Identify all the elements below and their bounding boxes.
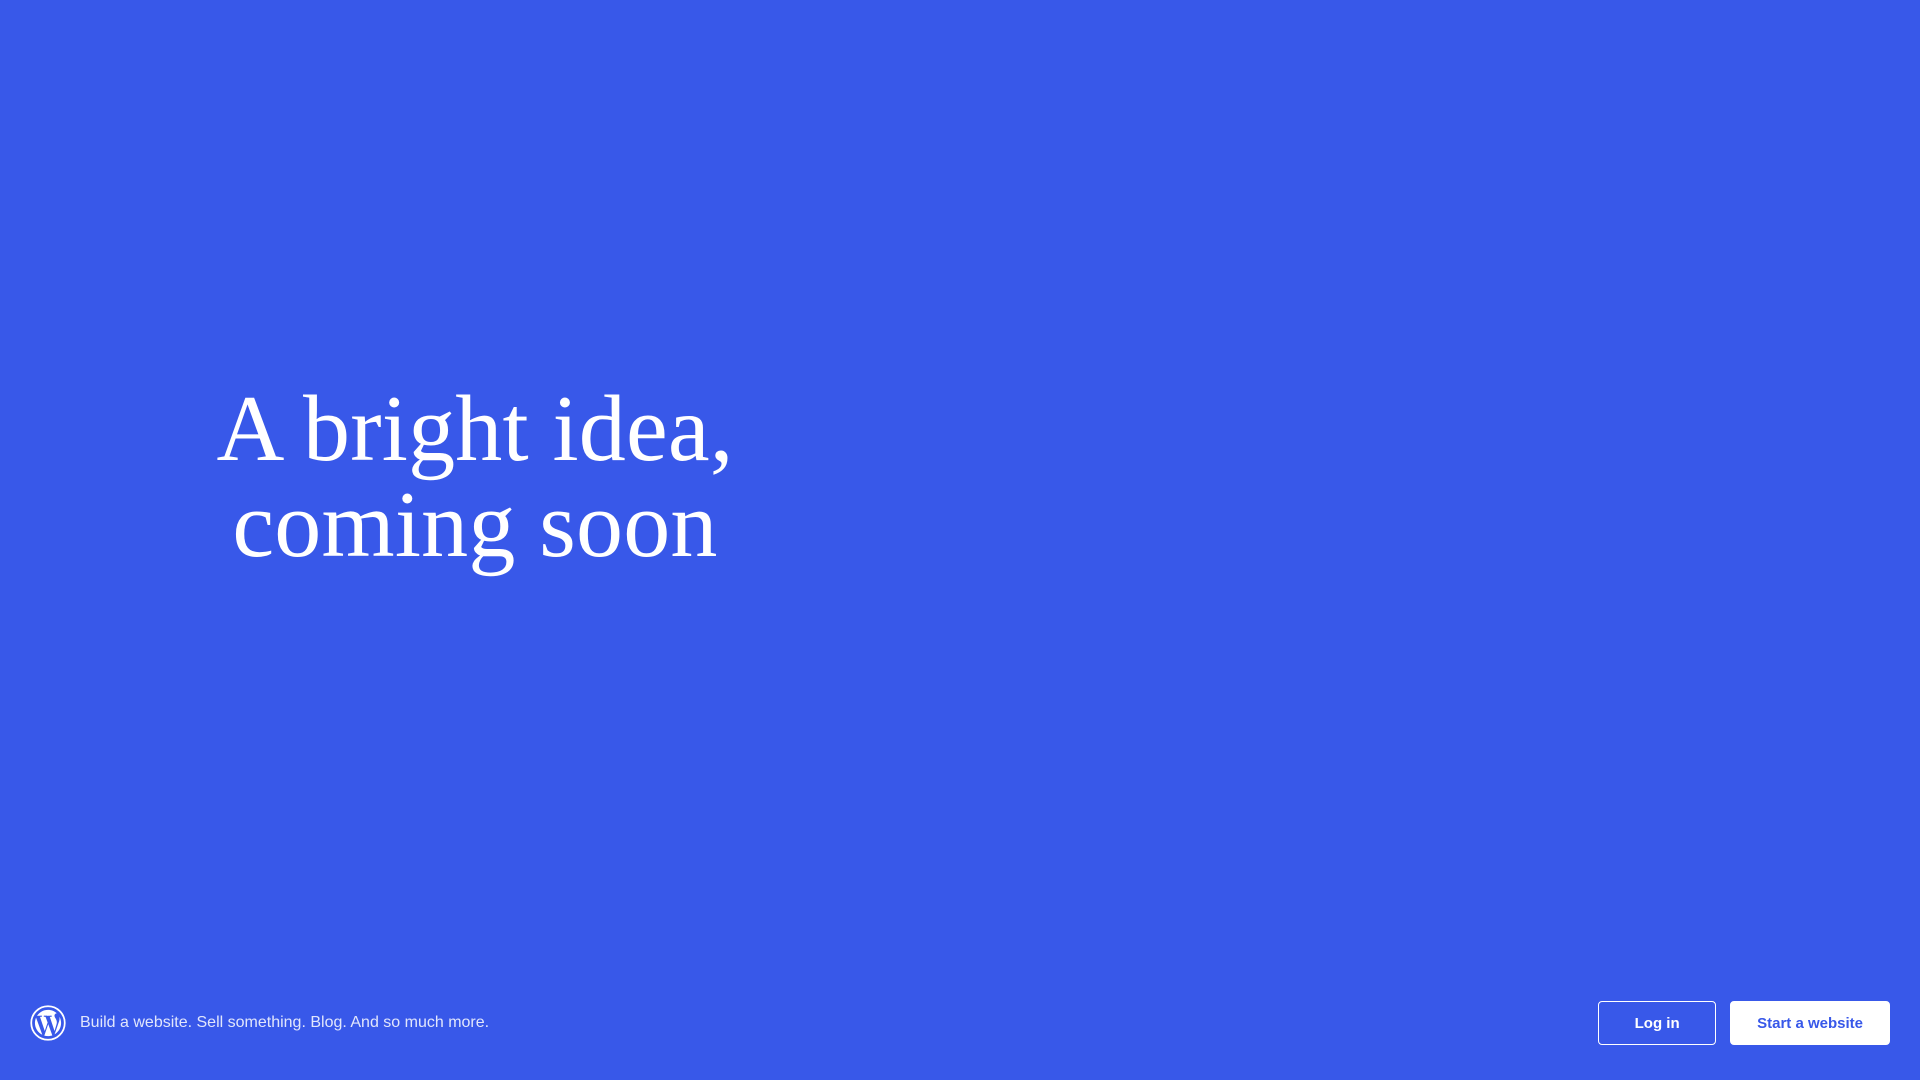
- login-button[interactable]: Log in: [1598, 1001, 1716, 1045]
- footer-tagline: Build a website. Sell something. Blog. A…: [80, 1015, 489, 1031]
- hero-text-block: A bright idea, coming soon: [90, 382, 860, 574]
- coming-soon-hero: A bright idea, coming soon: [0, 0, 1920, 1000]
- page-title: A bright idea, coming soon: [90, 382, 860, 574]
- footer-branding: Build a website. Sell something. Blog. A…: [30, 1000, 489, 1046]
- footer-actions: Log in Start a website: [1598, 1000, 1890, 1046]
- footer-bar: Build a website. Sell something. Blog. A…: [0, 1000, 1920, 1080]
- start-a-website-button[interactable]: Start a website: [1730, 1001, 1890, 1045]
- wordpress-logo-icon: [30, 1005, 66, 1041]
